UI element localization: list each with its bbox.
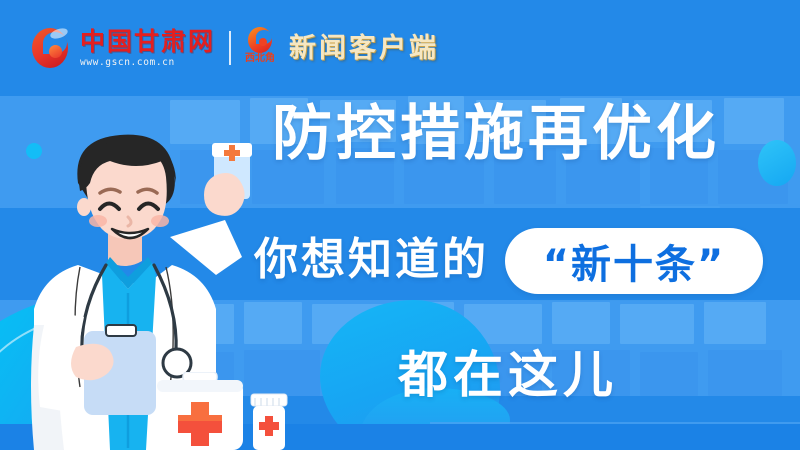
xibeijiao-swirl-logo-icon[interactable]: 西北角 [245,27,275,69]
cyan-dot-icon [758,140,796,186]
badge-label: “新十条” [543,232,726,290]
headline-line-2: 你想知道的 [254,238,489,282]
headline-line-3: 都在这儿 [398,350,618,400]
app-name: 新闻客户端 [289,35,439,62]
poster-canvas: 中国甘肃网 www.gscn.com.cn 西北角 新闻客户端 防控措施再优化 … [0,0,800,450]
brand-name: 中国甘肃网 [80,29,215,54]
first-aid-kit-icon [157,372,243,450]
medical-supplies-group [155,372,305,450]
brand-wordmark[interactable]: 中国甘肃网 www.gscn.com.cn [80,29,215,68]
gansu-swirl-logo-icon[interactable] [30,26,70,70]
pill-bottle-icon [251,394,287,450]
secondary-logo-label: 西北角 [245,53,275,64]
brand-url: www.gscn.com.cn [80,57,215,68]
header-divider [229,31,231,65]
headline-line-1: 防控措施再优化 [272,104,720,164]
new-ten-measures-badge: “新十条” [505,228,763,294]
site-header: 中国甘肃网 www.gscn.com.cn 西北角 新闻客户端 [30,24,439,72]
